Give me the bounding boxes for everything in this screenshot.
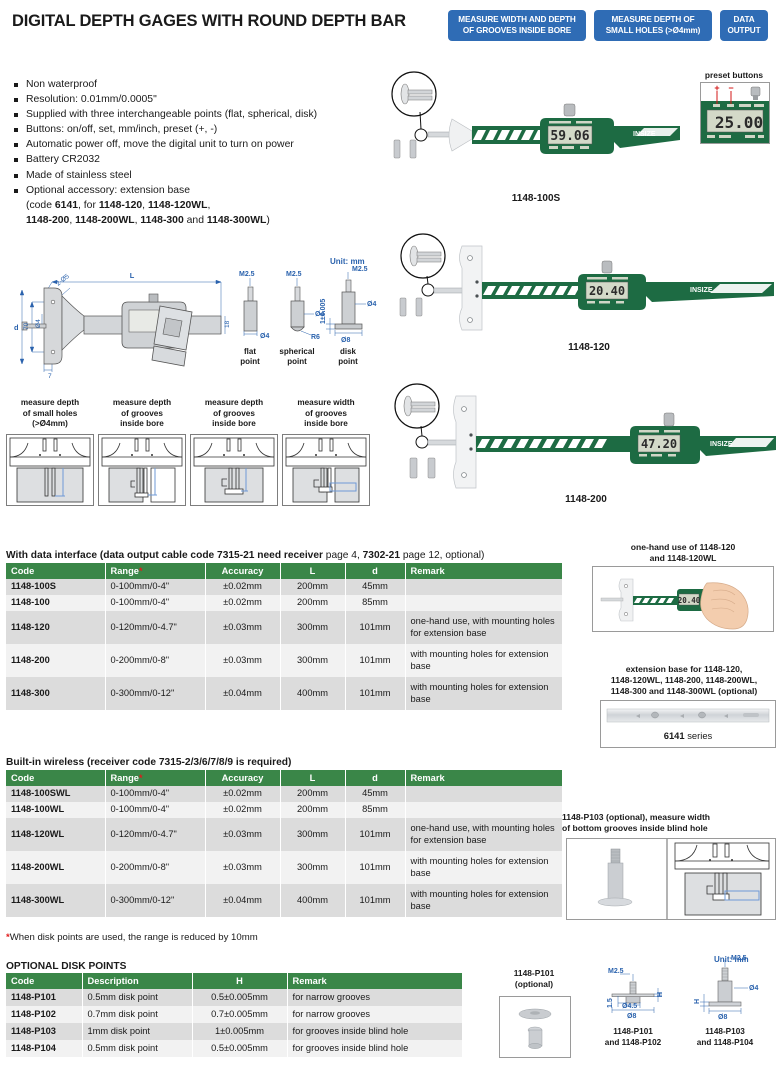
cell-code: 1148-100S [6,579,105,595]
measure-diagram-3: measure width of grooves inside bore [282,398,370,506]
cell-L: 200mm [280,579,345,595]
th-accuracy: Accuracy [205,770,280,786]
cell-range: 0-100mm/0-4" [105,595,205,611]
cell-accuracy: ±0.04mm [205,884,280,917]
measure-diagram-image [282,434,370,506]
product-photo-1148-100S: 59.06 INSIZE 1148-100S [386,62,686,212]
page-header: DIGITAL DEPTH GAGES WITH ROUND DEPTH BAR… [0,0,780,52]
disk-point-dimension-drawings: Unit: mm M2.5 H 1.5 Ø4.5 Ø8 [596,952,780,1080]
svg-text:INSIZE: INSIZE [633,131,656,138]
cell-code: 1148-P101 [6,989,82,1006]
cell-remark: with mounting holes for extension base [405,677,562,710]
preset-buttons-image: + − 25.00 [700,82,770,144]
feature-item-continuation-1: (code 6141, for 1148-120, 1148-120WL, [14,199,384,213]
spherical-point-radius: R6 [311,334,320,341]
measure-diagram-image [190,434,278,506]
cell-remark: for narrow grooves [287,1006,462,1023]
badge-measure-depth-small-holes: MEASURE DEPTH OF SMALL HOLES (>Ø4mm) [594,10,712,41]
lcd-reading: 20.40 [589,284,625,298]
table-row: 1148-P101 0.5mm disk point 0.5±0.005mm f… [6,989,462,1006]
badge-2-line-2: SMALL HOLES (>Ø4mm) [606,26,701,35]
feature-item: Optional accessory: extension base [14,184,384,198]
th-code: Code [6,770,105,786]
asterisk-marker: * [139,773,143,783]
product-label-2: 1148-120 [398,342,780,353]
product-label-1: 1148-100S [386,193,686,204]
badge-1-line-1: MEASURE WIDTH AND DEPTH [458,15,575,24]
cell-accuracy: ±0.03mm [205,818,280,851]
badge-3-line-1: DATA [733,15,754,24]
th-range: Range* [105,770,205,786]
table3-caption: OPTIONAL DISK POINTS [6,961,126,972]
th-remark: Remark [405,563,562,579]
svg-text:INSIZE: INSIZE [690,287,713,294]
cell-L: 200mm [280,802,345,818]
cell-code: 1148-100WL [6,802,105,818]
feature-item: Buttons: on/off, set, mm/inch, preset (+… [14,123,384,137]
feature-item-continuation-2: 1148-200, 1148-200WL, 1148-300 and 1148-… [14,214,384,228]
cell-d: 101mm [345,884,405,917]
cell-d: 101mm [345,851,405,884]
disk-point-thread: M2.5 [352,266,368,273]
cell-d: 101mm [345,818,405,851]
table1-header-row: Code Range* Accuracy L d Remark [6,563,562,579]
table-row: 1148-100S 0-100mm/0-4" ±0.02mm 200mm 45m… [6,579,562,595]
cell-remark [405,579,562,595]
p101-p102-label-line1: 1148-P101 [613,1027,653,1036]
cell-accuracy: ±0.04mm [205,677,280,710]
cell-d: 101mm [345,611,405,644]
cell-range: 0-200mm/0-8" [105,851,205,884]
measure-diagram-caption: measure width of grooves inside bore [282,398,370,432]
cell-code: 1148-100 [6,595,105,611]
cell-accuracy: ±0.02mm [205,579,280,595]
cell-accuracy: ±0.02mm [205,595,280,611]
p103-p104-label-line1: 1148-P103 [705,1027,745,1036]
cell-L: 200mm [280,786,345,802]
table2-header-row: Code Range* Accuracy L d Remark [6,770,562,786]
disk-point-dia: Ø4 [367,301,376,308]
spec-table-data-interface: Code Range* Accuracy L d Remark 1148-100… [6,563,562,710]
cell-code: 1148-300WL [6,884,105,917]
product-photo-1148-120: 20.40 INSIZE 1148-120 [398,232,780,362]
product-label-3: 1148-200 [392,494,780,505]
cell-L: 300mm [280,644,345,677]
badge-3-line-2: OUTPUT [727,26,760,35]
range-footnote: *When disk points are used, the range is… [6,932,258,943]
measure-diagram-image [6,434,94,506]
flat-point-thread: M2.5 [239,271,255,278]
cell-d: 85mm [345,802,405,818]
p101-photo-image [499,996,571,1058]
badge-measure-width-depth-grooves: MEASURE WIDTH AND DEPTH OF GROOVES INSID… [448,10,586,41]
lcd-reading: 59.06 [550,129,589,144]
cell-L: 300mm [280,611,345,644]
feature-bullets: Non waterproof Resolution: 0.01mm/0.0005… [14,78,384,227]
table-row: 1148-300WL 0-300mm/0-12" ±0.04mm 400mm 1… [6,884,562,917]
table1-caption: With data interface (data output cable c… [6,550,484,561]
cell-H: 0.5±0.005mm [192,1040,287,1057]
spherical-point-label-line2: point [287,357,307,366]
measure-diagram-2: measure depth of grooves inside bore [190,398,278,506]
feature-item: Supplied with three interchangeable poin… [14,108,384,122]
cell-accuracy: ±0.03mm [205,851,280,884]
p103-thread-label: M2.5 [731,955,747,962]
onehand-lcd-reading: 20.40 [678,596,701,605]
technical-dimension-drawing: L d 2-Ø5 Ø4 70 18 7 Unit: mm M2.5 Ø4 fla… [8,252,384,380]
cell-range: 0-300mm/0-12" [105,884,205,917]
disk-point-base-dia: Ø8 [341,337,350,344]
cell-range: 0-300mm/0-12" [105,677,205,710]
table-row: 1148-P104 0.5mm disk point 0.5±0.005mm f… [6,1040,462,1057]
spherical-point-label-line1: spherical [279,347,314,356]
flat-point-label-line2: point [240,357,260,366]
cell-H: 0.7±0.005mm [192,1006,287,1023]
cell-code: 1148-120WL [6,818,105,851]
p103-dia8-label: Ø8 [718,1014,727,1021]
flat-point-dia: Ø4 [260,333,269,340]
table-row: 1148-100SWL 0-100mm/0-4" ±0.02mm 200mm 4… [6,786,562,802]
badge-1-line-2: OF GROOVES INSIDE BORE [463,26,571,35]
p101-p102-label-line2: and 1148-P102 [605,1038,662,1047]
feature-list: Non waterproof Resolution: 0.01mm/0.0005… [14,78,384,229]
dim-label-7: 7 [48,373,52,380]
cell-remark: for grooves inside blind hole [287,1023,462,1040]
table3-header-row: Code Description H Remark [6,973,462,989]
p103-p104-label-line2: and 1148-P104 [697,1038,754,1047]
th-d: d [345,770,405,786]
cell-L: 400mm [280,677,345,710]
cell-range: 0-120mm/0-4.7" [105,818,205,851]
p101-dia8-label: Ø8 [627,1013,636,1020]
p101-thread-label: M2.5 [608,968,624,975]
p103-dia4-label: Ø4 [749,985,758,992]
cell-description: 1mm disk point [82,1023,192,1040]
cell-remark: for grooves inside blind hole [287,1040,462,1057]
onehand-caption: one-hand use of 1148-120 and 1148-120WL [592,542,774,564]
feature-item: Automatic power off, move the digital un… [14,138,384,152]
dim-label-dia4: Ø4 [35,319,42,328]
table-row: 1148-100WL 0-100mm/0-4" ±0.02mm 200mm 85… [6,802,562,818]
badge-data-output: DATA OUTPUT [720,10,768,41]
cell-remark [405,786,562,802]
th-H: H [192,973,287,989]
p101-photo-caption: 1148-P101 (optional) [486,968,582,989]
measure-diagram-0: measure depth of small holes (>Ø4mm) [6,398,94,506]
feature-item: Made of stainless steel [14,169,384,183]
cell-code: 1148-120 [6,611,105,644]
spec-table-optional-disk-points: Code Description H Remark 1148-P101 0.5m… [6,973,462,1057]
dim-label-L: L [130,271,135,280]
cell-code: 1148-P104 [6,1040,82,1057]
table-row: 1148-P102 0.7mm disk point 0.7±0.005mm f… [6,1006,462,1023]
table-row: 1148-120WL 0-120mm/0-4.7" ±0.03mm 300mm … [6,818,562,851]
cell-L: 400mm [280,884,345,917]
cell-range: 0-200mm/0-8" [105,644,205,677]
cell-accuracy: ±0.03mm [205,611,280,644]
spherical-point-thread: M2.5 [286,271,302,278]
measure-diagram-caption: measure depth of grooves inside bore [98,398,186,432]
cell-remark: one-hand use, with mounting holes for ex… [405,818,562,851]
cell-description: 0.5mm disk point [82,1040,192,1057]
cell-d: 45mm [345,786,405,802]
dim-label-18: 18 [224,320,231,328]
table-row: 1148-120 0-120mm/0-4.7" ±0.03mm 300mm 10… [6,611,562,644]
cell-range: 0-100mm/0-4" [105,579,205,595]
extension-base-caption: extension base for 1148-120, 1148-120WL,… [588,664,780,697]
dim-label-70: 70 [23,322,30,330]
table-row: 1148-300 0-300mm/0-12" ±0.04mm 400mm 101… [6,677,562,710]
svg-text:INSIZE: INSIZE [710,441,733,448]
measurement-diagram-row: measure depth of small holes (>Ø4mm) mea… [6,398,378,510]
dim-label-d: d [14,323,19,332]
measure-diagram-1: measure depth of grooves inside bore [98,398,186,506]
cell-description: 0.5mm disk point [82,989,192,1006]
table-row: 1148-200 0-200mm/0-8" ±0.03mm 300mm 101m… [6,644,562,677]
dim-label-2-dia5: 2-Ø5 [55,273,71,288]
cell-remark [405,595,562,611]
cell-remark: one-hand use, with mounting holes for ex… [405,611,562,644]
cell-code: 1148-P102 [6,1006,82,1023]
disk-point-tolerance: 1±0.005 [320,299,327,324]
measure-diagram-caption: measure depth of grooves inside bore [190,398,278,432]
cell-remark: with mounting holes for extension base [405,884,562,917]
cell-code: 1148-100SWL [6,786,105,802]
product-photo-1148-200: 47.20 INSIZE 1148-200 [392,382,780,514]
measure-diagram-caption: measure depth of small holes (>Ø4mm) [6,398,94,432]
cell-remark: for narrow grooves [287,989,462,1006]
onehand-image: 20.40 [592,566,774,632]
table-row: 1148-200WL 0-200mm/0-8" ±0.03mm 300mm 10… [6,851,562,884]
p101-15-label: 1.5 [607,998,614,1008]
preset-minus-icon: − [728,83,733,93]
cell-H: 1±0.005mm [192,1023,287,1040]
extension-base-series-label: 6141 series [604,730,772,741]
p103-image [566,838,776,920]
preset-plus-icon: + [714,83,719,93]
lcd-reading: 47.20 [641,437,677,451]
badge-2-line-1: MEASURE DEPTH OF [611,15,694,24]
th-range: Range* [105,563,205,579]
cell-accuracy: ±0.02mm [205,802,280,818]
feature-item: Battery CR2032 [14,153,384,167]
th-L: L [280,770,345,786]
p101-dia45-label: Ø4.5 [622,1003,637,1010]
th-L: L [280,563,345,579]
p103-caption: 1148-P103 (optional), measure width of b… [562,812,778,834]
page-title: DIGITAL DEPTH GAGES WITH ROUND DEPTH BAR [12,12,406,31]
th-remark: Remark [287,973,462,989]
disk-point-label-line2: point [338,357,358,366]
measure-diagram-image [98,434,186,506]
cell-remark: with mounting holes for extension base [405,644,562,677]
asterisk-marker: * [139,566,143,576]
cell-code: 1148-200 [6,644,105,677]
cell-accuracy: ±0.03mm [205,644,280,677]
cell-d: 101mm [345,677,405,710]
cell-L: 300mm [280,818,345,851]
cell-L: 200mm [280,595,345,611]
cell-remark: with mounting holes for extension base [405,851,562,884]
table-row: 1148-P103 1mm disk point 1±0.005mm for g… [6,1023,462,1040]
cell-d: 45mm [345,579,405,595]
cell-code: 1148-200WL [6,851,105,884]
cell-code: 1148-P103 [6,1023,82,1040]
cell-range: 0-100mm/0-4" [105,802,205,818]
cell-range: 0-120mm/0-4.7" [105,611,205,644]
feature-item: Non waterproof [14,78,384,92]
cell-d: 101mm [345,644,405,677]
cell-H: 0.5±0.005mm [192,989,287,1006]
preset-lcd-reading: 25.00 [715,113,763,132]
spec-table-builtin-wireless: Code Range* Accuracy L d Remark 1148-100… [6,770,562,917]
feature-item: Resolution: 0.01mm/0.0005" [14,93,384,107]
preset-buttons-caption: preset buttons [692,70,776,80]
cell-accuracy: ±0.02mm [205,786,280,802]
flat-point-label-line1: flat [244,347,256,356]
p101-H-label: H [657,992,664,997]
cell-L: 300mm [280,851,345,884]
cell-d: 85mm [345,595,405,611]
table2-caption: Built-in wireless (receiver code 7315-2/… [6,757,291,768]
disk-point-label-line1: disk [340,347,357,356]
th-code: Code [6,563,105,579]
th-description: Description [82,973,192,989]
p103-H-label: H [694,999,701,1004]
cell-code: 1148-300 [6,677,105,710]
cell-range: 0-100mm/0-4" [105,786,205,802]
th-d: d [345,563,405,579]
th-code: Code [6,973,82,989]
table-row: 1148-100 0-100mm/0-4" ±0.02mm 200mm 85mm [6,595,562,611]
th-accuracy: Accuracy [205,563,280,579]
cell-description: 0.7mm disk point [82,1006,192,1023]
unit-label: Unit: mm [330,257,365,266]
cell-remark [405,802,562,818]
th-remark: Remark [405,770,562,786]
